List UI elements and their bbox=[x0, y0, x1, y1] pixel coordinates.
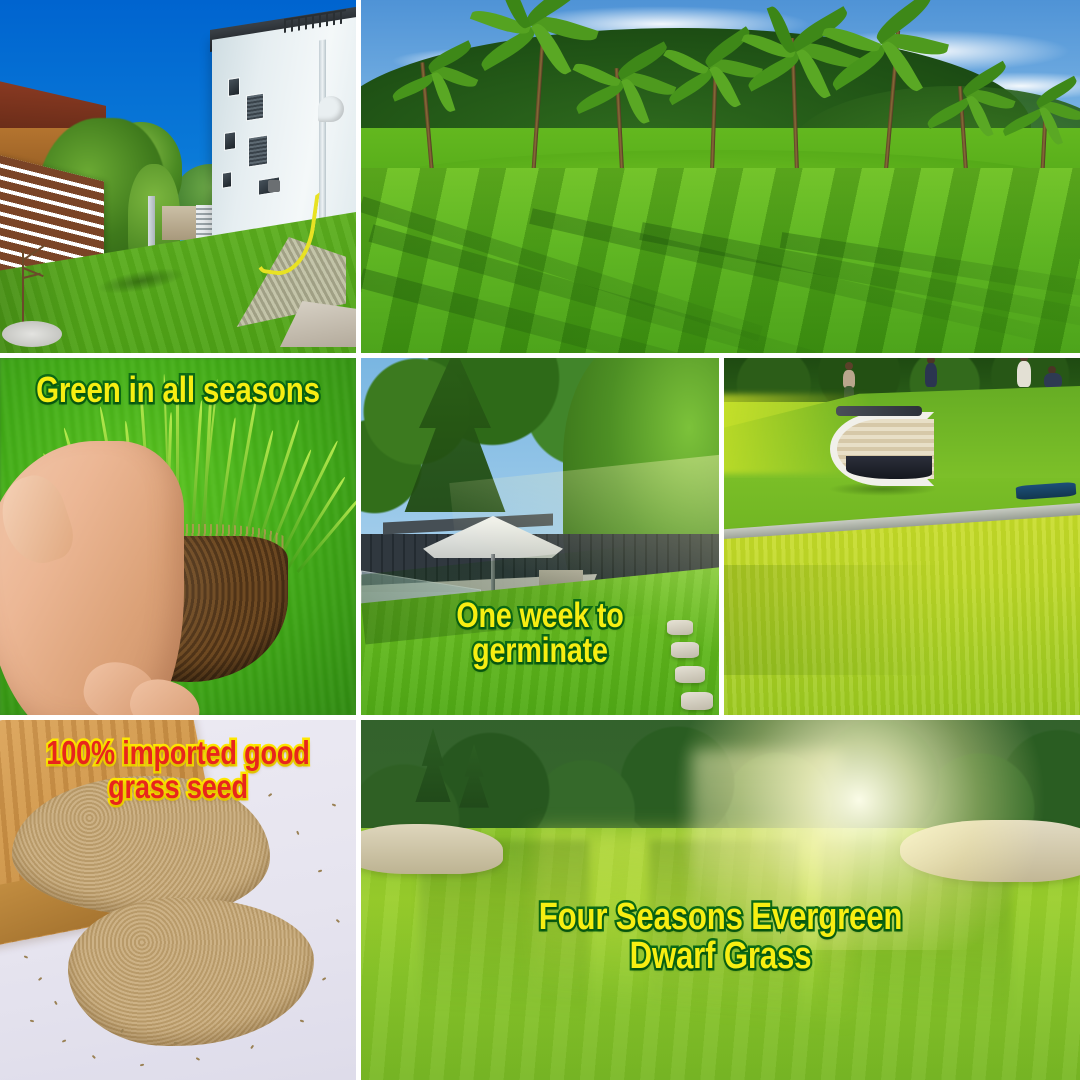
house-window bbox=[228, 77, 240, 97]
lounger-top-edge bbox=[836, 406, 922, 416]
panel-house-side-lawn bbox=[0, 0, 356, 353]
caption-one-week-to-germinate: One week to germinate bbox=[393, 598, 687, 669]
sand-bunker-right bbox=[900, 820, 1080, 882]
sapling-trunk bbox=[22, 249, 24, 329]
foreground-lawn-shade bbox=[724, 565, 945, 675]
gravel-ring bbox=[2, 321, 62, 347]
garden-tap bbox=[268, 180, 280, 192]
stepping-stone bbox=[681, 692, 713, 710]
person bbox=[1016, 358, 1032, 390]
panel-turf-clump-in-hand: Green in all seasons bbox=[0, 358, 356, 715]
house-window bbox=[248, 134, 268, 167]
house-window bbox=[224, 131, 236, 151]
caption-green-all-seasons: Green in all seasons bbox=[32, 372, 324, 409]
panel-sunrise-fairway: Four Seasons Evergreen Dwarf Grass bbox=[361, 720, 1080, 1080]
panel-grass-seed-pile: 100% imported good grass seed bbox=[0, 720, 356, 1080]
house-window bbox=[222, 171, 232, 189]
photo-collage: Green in all seasons One week to germina… bbox=[0, 0, 1080, 1080]
palm-tree bbox=[389, 56, 473, 184]
caption-four-seasons-evergreen: Four Seasons Evergreen Dwarf Grass bbox=[426, 898, 1016, 976]
person bbox=[924, 358, 938, 390]
person bbox=[1044, 366, 1062, 390]
caption-imported-grass-seed: 100% imported good grass seed bbox=[32, 736, 324, 803]
house-window bbox=[246, 93, 264, 122]
satellite-dish bbox=[318, 96, 344, 122]
panel-backyard-umbrella-lawn: One week to germinate bbox=[361, 358, 719, 715]
panel-park-lounger-lawn bbox=[724, 358, 1080, 715]
panel-golf-course-palms bbox=[361, 0, 1080, 353]
scattered-seed bbox=[174, 1042, 178, 1044]
